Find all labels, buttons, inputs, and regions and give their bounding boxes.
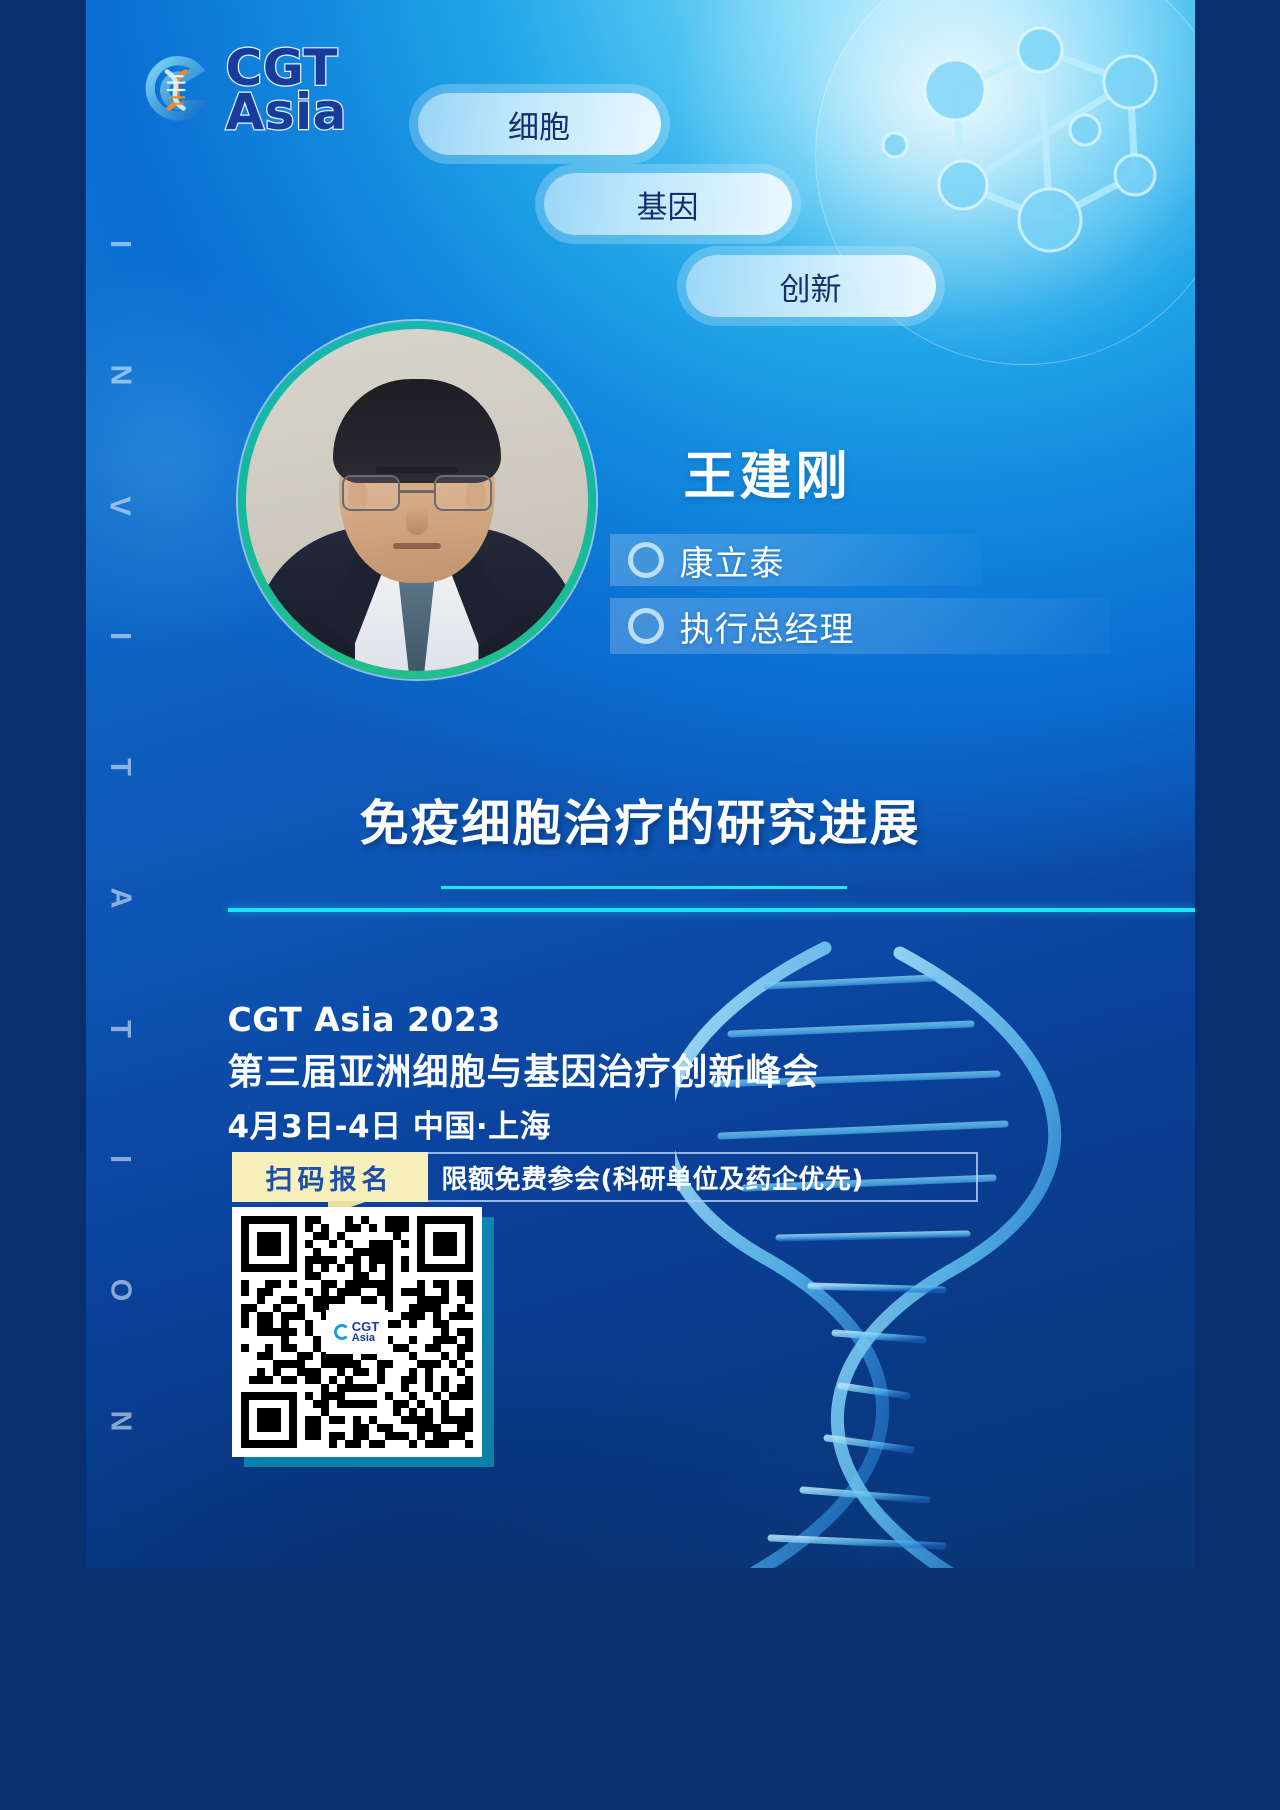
speaker-name: 王建刚	[684, 434, 852, 509]
bullet-ring-icon	[628, 542, 664, 578]
side-letter: T	[103, 758, 136, 777]
qr-logo-line2: Asia	[352, 1333, 379, 1344]
portrait-brow-left	[376, 467, 420, 473]
speaker-photo-frame	[238, 321, 596, 679]
dna-helix-icon	[675, 878, 1195, 1568]
divider-long	[228, 908, 1195, 912]
side-letter: V	[103, 496, 136, 516]
bullet-ring-icon	[628, 608, 664, 644]
keyword-pill-innovation[interactable]: 创新	[686, 255, 936, 317]
divider-short	[441, 886, 847, 889]
registration-banner: 扫码报名 限额免费参会(科研单位及药企优先)	[232, 1152, 978, 1202]
invitation-poster: I N V I T A T I O N	[86, 0, 1195, 1568]
speaker-portrait	[246, 329, 588, 671]
side-letter: T	[103, 1020, 136, 1039]
portrait-mouth	[393, 543, 441, 549]
side-letter: O	[103, 1279, 136, 1303]
portrait-nose	[406, 507, 428, 535]
dna-g-logo-icon	[132, 44, 224, 136]
event-name-en: CGT Asia 2023	[228, 1000, 820, 1039]
speaker-role-row: 执行总经理	[610, 598, 1110, 654]
logo-text-asia: Asia	[226, 89, 347, 135]
cgt-asia-logo: CGT Asia	[132, 44, 347, 136]
portrait-brow-right	[414, 467, 458, 473]
scan-to-register-tag[interactable]: 扫码报名	[232, 1152, 428, 1202]
keyword-pill-cell[interactable]: 细胞	[418, 93, 661, 155]
side-letter: I	[103, 1155, 136, 1164]
side-letter: I	[103, 240, 136, 249]
qr-logo-ring-icon	[334, 1324, 350, 1340]
side-letter: N	[103, 364, 136, 386]
side-letter: I	[103, 632, 136, 641]
event-info-block: CGT Asia 2023 第三届亚洲细胞与基因治疗创新峰会 4月3日-4日 中…	[228, 1000, 820, 1146]
side-letter: N	[103, 1410, 136, 1432]
event-name-cn: 第三届亚洲细胞与基因治疗创新峰会	[228, 1043, 820, 1095]
qr-center-logo: CGT Asia	[326, 1310, 388, 1354]
registration-note: 限额免费参会(科研单位及药企优先)	[428, 1152, 978, 1202]
speaker-affiliation-row: 康立泰	[610, 534, 981, 586]
speaker-role: 执行总经理	[680, 602, 855, 651]
keyword-pill-gene[interactable]: 基因	[544, 173, 792, 235]
event-date-location: 4月3日-4日 中国·上海	[228, 1101, 820, 1146]
side-letter: A	[103, 887, 136, 909]
speaker-affiliation: 康立泰	[680, 536, 785, 585]
presentation-topic-title: 免疫细胞治疗的研究进展	[86, 784, 1195, 855]
qr-code[interactable]: CGT Asia	[232, 1207, 482, 1457]
